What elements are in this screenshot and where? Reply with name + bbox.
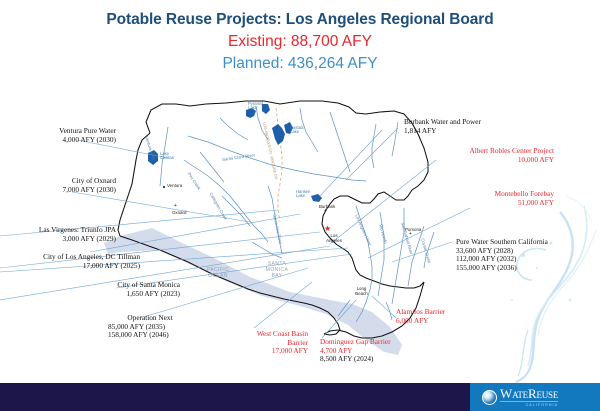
callout-line: 4,000 AFY (2030) <box>6 136 116 145</box>
map-city-cross-burbank: + <box>324 209 327 214</box>
map-city-cross-pomona: + <box>409 232 412 237</box>
planned-total: Planned: 436,264 AFY <box>0 55 600 73</box>
callout-las-virgenes-triunfo-jpa: Las Virgenes: Triunfo JPA 3,000 AFY (202… <box>2 226 116 243</box>
map-city-long-beach: Long Beach <box>353 287 370 297</box>
logo-wordmark: WateReuse <box>500 387 558 400</box>
callout-albert-robles-center-project: Albert Robles Center Project 10,000 AFY <box>434 147 554 164</box>
map-label-castaic-lake: Castaic Lake <box>290 126 306 135</box>
slide-canvas: Potable Reuse Projects: Los Angeles Regi… <box>0 0 600 411</box>
existing-total: Existing: 88,700 AFY <box>0 33 600 51</box>
map-city-los-angeles: Los Angeles <box>326 234 342 244</box>
callout-line: 3,000 AFY (2029) <box>2 235 116 244</box>
callout-alamitos-barrier: Alamitos Barrier 6,000 AFY <box>396 308 506 325</box>
map-label-pyramid-lake: Pyramid Lake <box>248 102 264 111</box>
water-splash-graphic <box>511 196 596 382</box>
callout-line: 8,500 AFY (2024) <box>320 355 440 364</box>
wateruse-logo[interactable]: WateReuse CALIFORNIA <box>482 387 558 407</box>
callout-line: 6,000 AFY <box>396 317 506 326</box>
globe-wave-icon <box>482 390 497 405</box>
callout-dominguez-gap-barrier: Dominguez Gap Barrier 4,700 AFY 8,500 AF… <box>320 338 440 364</box>
callout-west-coast-basin-barrier: West Coast Basin Barrier 17,000 AFY <box>210 330 308 356</box>
callout-line: 17,000 AFY <box>210 347 308 356</box>
map-city-pomona: Pomona <box>405 228 421 233</box>
callout-line: 17,000 AFY (2025) <box>2 262 140 271</box>
callout-line: 155,000 AFY (2036) <box>456 264 586 273</box>
logo-text-block: WateReuse CALIFORNIA <box>500 387 558 408</box>
callout-line: 51,000 AFY <box>452 199 554 208</box>
map-city-oxnard: Oxnard <box>172 211 186 216</box>
callout-ventura-pure-water: Ventura Pure Water 4,000 AFY (2030) <box>6 127 116 144</box>
map-city-cross-oxnard: + <box>174 204 177 209</box>
map-city-ventura: Ventura <box>167 184 182 189</box>
logo-subtitle: CALIFORNIA <box>500 401 558 408</box>
map-city-dot-ventura <box>163 186 165 188</box>
callout-line: 10,000 AFY <box>434 156 554 165</box>
footer-navy-block <box>0 383 470 411</box>
callout-line: 1,650 AFY (2023) <box>40 290 180 299</box>
slide-title: Potable Reuse Projects: Los Angeles Regi… <box>0 11 600 29</box>
map-label-lake-casitas: Lake Casitas <box>160 152 176 161</box>
callout-montebello-forebay: Montebello Forebay 51,000 AFY <box>452 190 554 207</box>
map-city-burbank: Burbank <box>319 205 335 210</box>
map-label-santa-monica-bay: SANTA MONICA BAY <box>262 261 292 279</box>
map-capital-star-icon: ★ <box>324 225 331 233</box>
footer-bar: WateReuse CALIFORNIA <box>0 383 600 411</box>
map-label-hansen-lake: Hansen Lake <box>296 190 312 199</box>
callout-city-of-santa-monica: City of Santa Monica 1,650 AFY (2023) <box>40 281 180 298</box>
callout-pure-water-southern-california: Pure Water Southern California 33,600 AF… <box>456 238 586 272</box>
callout-city-of-los-angeles-dc-tillman: City of Los Angeles, DC Tillman 17,000 A… <box>2 253 140 270</box>
callout-burbank-water-and-power: Burbank Water and Power 1,814 AFY <box>404 118 534 135</box>
callout-line: 7,000 AFY (2030) <box>6 186 116 195</box>
map-label-pacific-ocean: PACIFIC OCEAN <box>197 267 239 279</box>
callout-city-of-oxnard: City of Oxnard 7,000 AFY (2030) <box>6 177 116 194</box>
callout-line: 1,814 AFY <box>404 127 534 136</box>
